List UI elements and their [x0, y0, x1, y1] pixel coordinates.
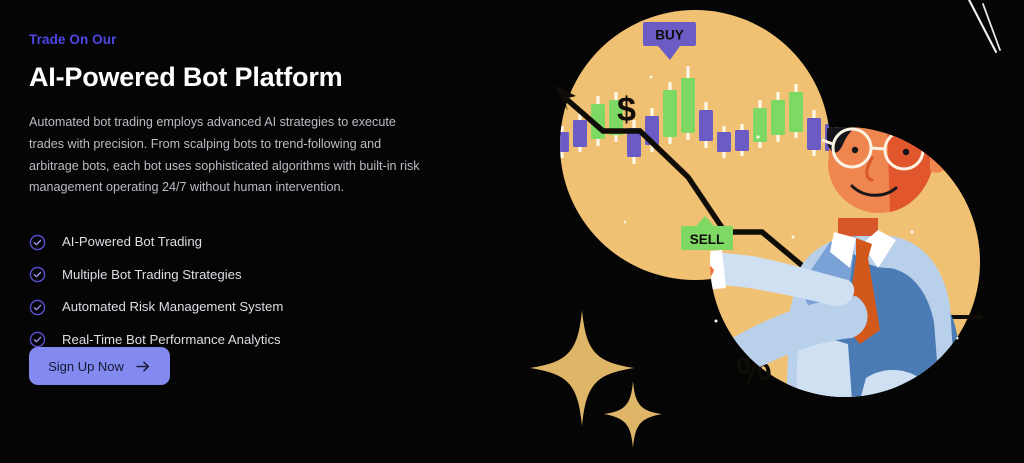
list-item: Multiple Bot Trading Strategies [29, 258, 449, 291]
dollar-symbol: $ [617, 91, 636, 129]
feature-label: Multiple Bot Trading Strategies [62, 268, 242, 281]
check-circle-icon [29, 299, 46, 316]
sparkle-decoration [530, 310, 662, 448]
hero-section: Trade On Our AI-Powered Bot Platform Aut… [0, 0, 1024, 463]
feature-label: Automated Risk Management System [62, 300, 283, 313]
check-circle-icon [29, 331, 46, 348]
feature-list: AI-Powered Bot Trading Multiple Bot Trad… [29, 226, 449, 356]
check-circle-icon [29, 234, 46, 251]
feature-label: AI-Powered Bot Trading [62, 235, 202, 248]
list-item: AI-Powered Bot Trading [29, 226, 449, 259]
corner-lines-decoration [966, 0, 1000, 52]
hero-eyebrow: Trade On Our [29, 33, 449, 47]
ai-trading-bot-illustration: $ % BUY SELL [500, 0, 1024, 463]
check-circle-icon [29, 266, 46, 283]
buy-tag-label: BUY [655, 28, 684, 43]
sell-tag-label: SELL [690, 232, 725, 247]
sign-up-button[interactable]: Sign Up Now [29, 347, 170, 385]
feature-label: Real-Time Bot Performance Analytics [62, 333, 281, 346]
hero-text-column: Trade On Our AI-Powered Bot Platform Aut… [29, 33, 449, 356]
hero-description: Automated bot trading employs advanced A… [29, 112, 427, 199]
arrow-right-icon [136, 360, 151, 373]
list-item: Automated Risk Management System [29, 291, 449, 324]
sign-up-button-label: Sign Up Now [48, 360, 124, 373]
page-title: AI-Powered Bot Platform [29, 63, 449, 93]
